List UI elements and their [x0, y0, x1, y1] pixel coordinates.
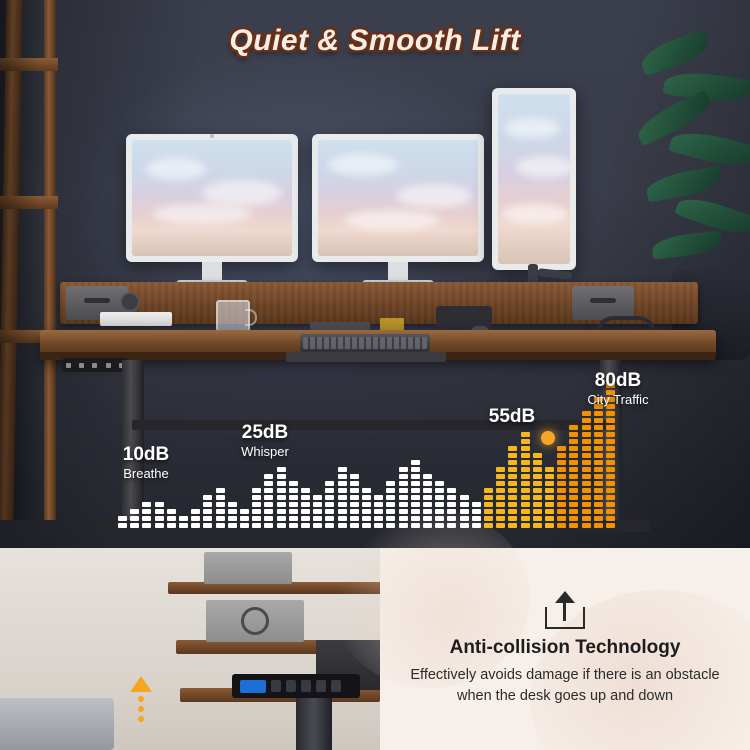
sticky-note	[380, 318, 404, 330]
dock-station	[436, 306, 492, 328]
eq-label-25db: 25dB Whisper	[210, 422, 320, 460]
monitor-right-portrait	[492, 88, 576, 270]
eq-bar	[545, 467, 554, 528]
eq-bar	[264, 474, 273, 528]
house-plant	[630, 20, 750, 320]
eq-bar	[338, 467, 347, 528]
eq-bar	[508, 446, 517, 528]
drawer-right[interactable]	[572, 286, 634, 320]
feature-title: Anti-collision Technology	[450, 637, 681, 659]
panel-display	[240, 680, 266, 693]
eq-bar	[142, 502, 151, 528]
photo-bin-top	[204, 552, 292, 584]
eq-label-10db: 10dB Breathe	[96, 444, 196, 482]
feature-block: Anti-collision Technology Effectively av…	[380, 548, 750, 750]
bottom-panel: Anti-collision Technology Effectively av…	[0, 548, 750, 750]
panel-btn-3[interactable]	[331, 680, 341, 692]
eq-bar	[569, 425, 578, 528]
eq-bar	[362, 488, 371, 528]
coffee-mug	[216, 300, 250, 334]
panel-btn-2[interactable]	[316, 680, 326, 692]
collision-arrow-icon	[122, 676, 162, 728]
eq-label-80db: 80dB City Traffic	[548, 370, 688, 408]
eq-bar	[130, 509, 139, 528]
feature-description: Effectively avoids damage if there is an…	[394, 665, 736, 707]
photo-control-panel[interactable]	[232, 674, 360, 698]
control-button-down[interactable]	[79, 363, 84, 368]
eq-bar	[289, 481, 298, 528]
eq-bar	[533, 453, 542, 528]
photo-desk-leg	[296, 698, 332, 750]
top-scene: Quiet & Smooth Lift	[0, 0, 750, 548]
eq-bar	[496, 467, 505, 528]
eq-bar	[203, 495, 212, 528]
eq-marker-dot	[541, 431, 555, 445]
desk-control-panel[interactable]	[62, 358, 128, 372]
monitor-center	[312, 134, 484, 262]
eq-bar	[557, 446, 566, 528]
eq-bar	[521, 432, 530, 528]
eq-bar	[240, 509, 249, 528]
eq-bar	[155, 502, 164, 528]
panel-btn-up[interactable]	[271, 680, 281, 692]
eq-bar	[325, 481, 334, 528]
eq-bar	[191, 509, 200, 528]
eq-bar	[252, 488, 261, 528]
upload-icon	[545, 591, 585, 629]
control-button-up[interactable]	[66, 363, 71, 368]
product-infographic: Quiet & Smooth Lift	[0, 0, 750, 750]
eq-bar	[277, 467, 286, 528]
photo-cart-obstacle	[0, 698, 114, 750]
monitor-left	[126, 134, 298, 262]
ladder-shelf	[0, 0, 56, 520]
eq-bar	[484, 488, 493, 528]
books-stack	[100, 312, 172, 326]
keyboard-tray	[286, 352, 446, 362]
eq-bar	[118, 516, 127, 528]
page-title: Quiet & Smooth Lift	[0, 24, 750, 58]
control-preset-1[interactable]	[92, 363, 97, 368]
eq-label-55db: 55dB	[462, 406, 562, 428]
panel-btn-down[interactable]	[286, 680, 296, 692]
speaker	[120, 292, 140, 312]
anti-collision-photo	[0, 548, 380, 750]
control-preset-2[interactable]	[106, 363, 111, 368]
eq-bar	[594, 397, 603, 528]
eq-bar	[167, 509, 176, 528]
keyboard	[300, 334, 430, 352]
eq-bar	[228, 502, 237, 528]
panel-btn-1[interactable]	[301, 680, 311, 692]
photo-bin-mid	[206, 600, 304, 642]
eq-bar	[301, 488, 310, 528]
eq-bar	[216, 488, 225, 528]
pen-tray	[310, 322, 370, 330]
eq-bar	[313, 495, 322, 528]
eq-bar	[582, 411, 591, 528]
eq-bar	[179, 516, 188, 528]
eq-bar	[350, 474, 359, 528]
